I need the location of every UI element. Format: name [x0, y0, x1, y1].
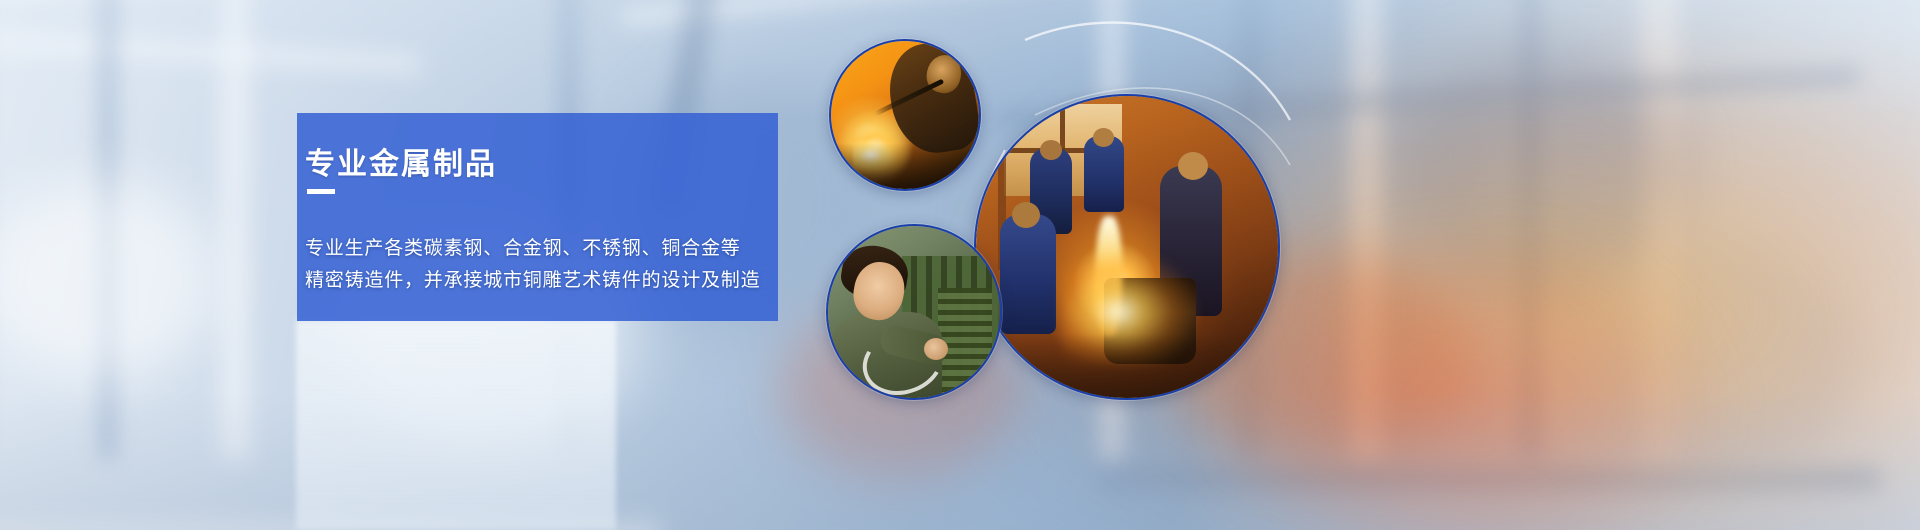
worker-figure-3	[1000, 214, 1056, 334]
worker-head-1	[1040, 140, 1062, 160]
foundry-pour-photo	[974, 94, 1280, 400]
welding-sparks-photo	[829, 39, 981, 191]
foundry-photo-inner	[976, 96, 1278, 398]
worker-head-3	[1012, 202, 1040, 228]
welding-photo-inner	[831, 41, 979, 189]
photo-shadow	[831, 143, 979, 189]
worker-head-4	[1178, 152, 1208, 180]
title-divider	[307, 189, 335, 194]
technician-photo-inner	[828, 226, 1000, 398]
worker-head-2	[1093, 128, 1114, 147]
hero-banner: 专业金属制品 专业生产各类碳素钢、合金钢、不锈钢、铜合金等 精密铸造件，并承接城…	[0, 0, 1920, 530]
foundry-floor-shadow	[976, 334, 1278, 398]
worker-figure-2	[1084, 136, 1124, 212]
white-backdrop-card	[296, 320, 616, 530]
page-title: 专业金属制品	[305, 139, 497, 183]
technician-photo	[826, 224, 1002, 400]
